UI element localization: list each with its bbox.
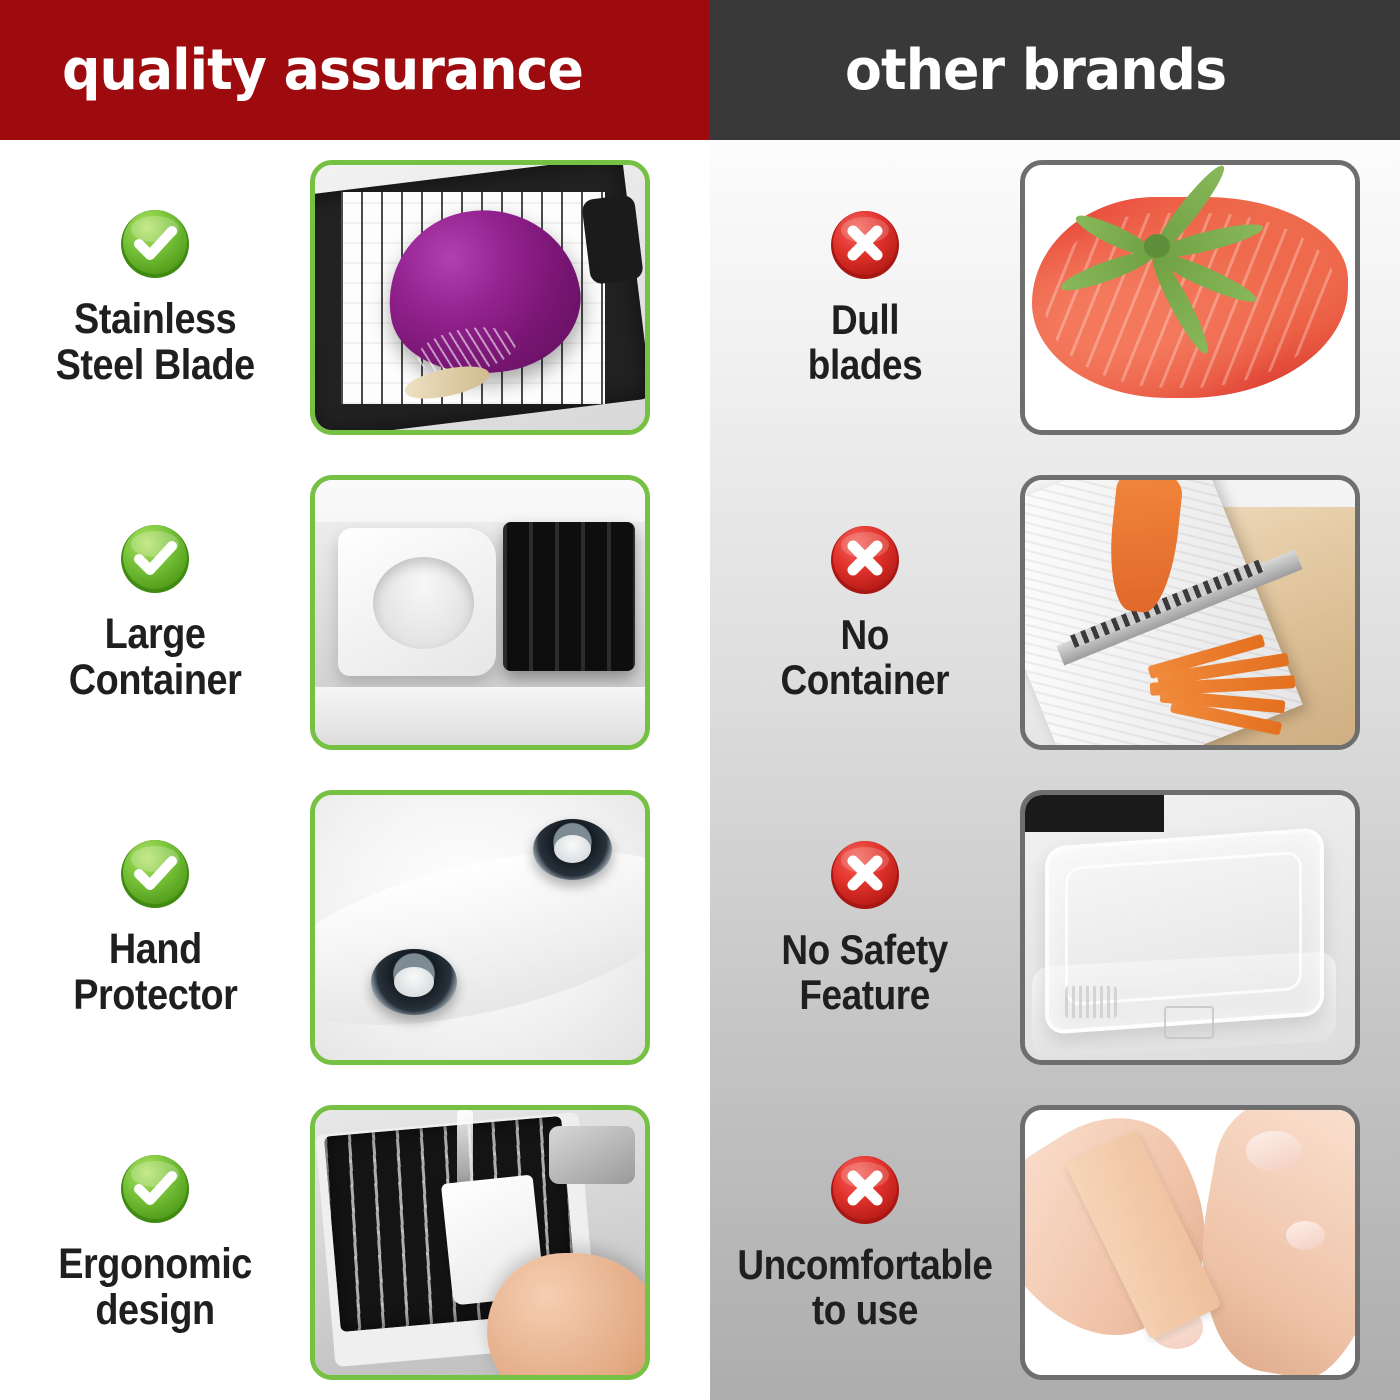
drawback-row-no-safety-feature: No Safety Feature [710, 770, 1400, 1085]
feature-cell: Hand Protector [0, 837, 310, 1018]
feature-image-hand-protector [310, 790, 650, 1065]
feature-image-onion-chopper [310, 160, 650, 435]
drawback-label: No Container [781, 613, 950, 702]
quality-assurance-column: Stainless Steel Blade [0, 140, 710, 1400]
drawback-label: No Safety Feature [782, 928, 949, 1017]
scene-rinsing-grid [315, 1110, 645, 1375]
feature-row-hand-protector: Hand Protector [0, 770, 710, 1085]
cross-icon [828, 838, 902, 912]
drawback-label-line2: Feature [782, 973, 949, 1018]
drawback-row-uncomfortable-to-use: Uncomfortable to use [710, 1085, 1400, 1400]
feature-row-stainless-steel-blade: Stainless Steel Blade [0, 140, 710, 455]
drawback-image-no-safety-feature [1020, 790, 1360, 1065]
feature-label-line2: design [58, 1288, 252, 1334]
feature-label-line1: Large [105, 610, 206, 658]
feature-cell: Stainless Steel Blade [0, 207, 310, 388]
feature-label-line2: Container [69, 658, 242, 704]
drawback-cell: No Container [710, 523, 1020, 702]
feature-label-line1: Ergonomic [58, 1240, 252, 1288]
feature-label-line1: Hand [109, 925, 202, 973]
feature-label-line1: Stainless [74, 295, 236, 343]
scene-clear-container [1025, 795, 1355, 1060]
scene-crushed-tomato [1025, 165, 1355, 430]
drawback-image-uncomfortable-to-use [1020, 1105, 1360, 1380]
feature-label-line2: Protector [73, 973, 237, 1019]
drawback-label-line2: blades [808, 343, 922, 388]
feature-cell: Large Container [0, 522, 310, 703]
cross-icon [828, 208, 902, 282]
feature-row-large-container: Large Container [0, 455, 710, 770]
drawback-row-no-container: No Container [710, 455, 1400, 770]
feature-label: Hand Protector [73, 927, 237, 1018]
feature-label: Stainless Steel Blade [55, 297, 254, 388]
drawback-cell: No Safety Feature [710, 838, 1020, 1017]
feature-label: Ergonomic design [58, 1242, 252, 1333]
header-right-title: other brands [845, 38, 1226, 103]
feature-label: Large Container [69, 612, 242, 703]
cross-icon [828, 1153, 902, 1227]
scene-bandaged-finger [1025, 1110, 1355, 1375]
drawback-label-line2: to use [737, 1288, 992, 1333]
scene-onion-on-grid [315, 165, 645, 430]
feature-image-large-container [310, 475, 650, 750]
scene-white-lid-rings [315, 795, 645, 1060]
drawback-image-dull-blades [1020, 160, 1360, 435]
drawback-label-line1: Uncomfortable [737, 1241, 992, 1288]
drawback-label-line1: No Safety [782, 926, 949, 973]
feature-cell: Ergonomic design [0, 1152, 310, 1333]
drawback-label-line2: Container [781, 658, 950, 703]
drawback-label-line1: Dull [831, 296, 899, 343]
drawback-image-no-container [1020, 475, 1360, 750]
comparison-body: Stainless Steel Blade [0, 140, 1400, 1400]
drawback-cell: Uncomfortable to use [710, 1153, 1020, 1332]
check-icon [118, 1152, 192, 1226]
scene-guard-and-blade [315, 480, 645, 745]
cross-icon [828, 523, 902, 597]
header-quality-assurance: quality assurance [0, 0, 710, 140]
drawback-row-dull-blades: Dull blades [710, 140, 1400, 455]
drawback-label: Dull blades [808, 298, 922, 387]
feature-image-ergonomic-design [310, 1105, 650, 1380]
comparison-infographic: quality assurance other brands [0, 0, 1400, 1400]
header-bar: quality assurance other brands [0, 0, 1400, 140]
drawback-cell: Dull blades [710, 208, 1020, 387]
feature-label-line2: Steel Blade [55, 343, 254, 389]
header-other-brands: other brands [710, 0, 1400, 140]
check-icon [118, 522, 192, 596]
drawback-label: Uncomfortable to use [737, 1243, 992, 1332]
check-icon [118, 207, 192, 281]
other-brands-column: Dull blades [710, 140, 1400, 1400]
scene-mandoline-carrots [1025, 480, 1355, 745]
feature-row-ergonomic-design: Ergonomic design [0, 1085, 710, 1400]
check-icon [118, 837, 192, 911]
header-left-title: quality assurance [62, 38, 583, 103]
drawback-label-line1: No [841, 611, 889, 658]
